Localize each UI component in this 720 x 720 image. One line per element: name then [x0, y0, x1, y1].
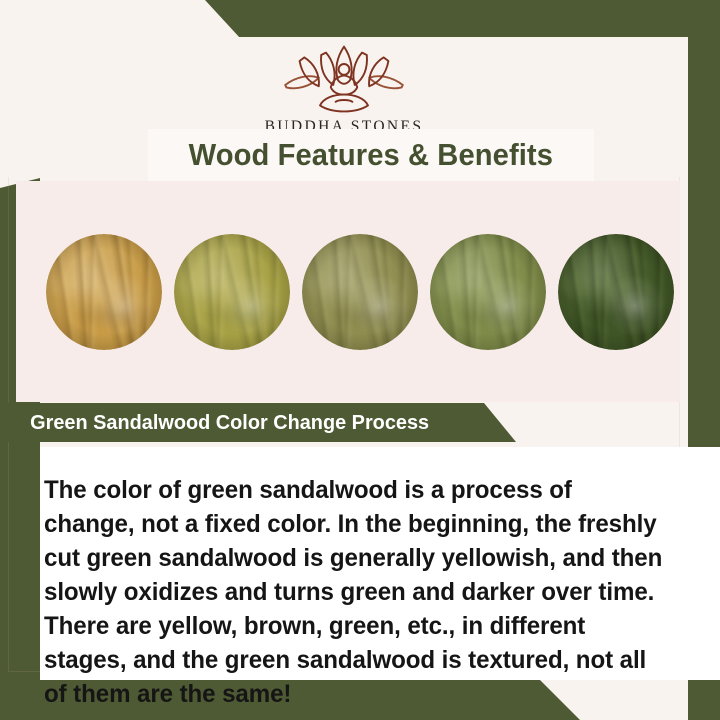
bead-row: [16, 181, 680, 402]
wood-bead-stage-2: [174, 234, 290, 350]
wood-bead-stage-1: [46, 234, 162, 350]
bead-showcase: [16, 181, 680, 402]
bead-shading: [174, 234, 290, 350]
wood-bead-stage-4: [430, 234, 546, 350]
bead-shading: [430, 234, 546, 350]
frame-top-notch: [0, 0, 240, 38]
bead-shading: [302, 234, 418, 350]
body-paragraph: The color of green sandalwood is a proce…: [44, 473, 664, 711]
subtitle-bar: Green Sandalwood Color Change Process: [0, 403, 516, 442]
title-plaque: Wood Features & Benefits: [148, 129, 594, 181]
lotus-meditation-icon: [278, 43, 410, 115]
wood-bead-stage-5: [558, 234, 674, 350]
wood-bead-stage-3: [302, 234, 418, 350]
bead-shading: [558, 234, 674, 350]
page-title: Wood Features & Benefits: [189, 137, 553, 173]
body-copy-panel: The color of green sandalwood is a proce…: [40, 447, 720, 680]
poster-frame: BUDDHA STONES Wood Features & Benefits: [0, 0, 720, 720]
subtitle-label: Green Sandalwood Color Change Process: [30, 411, 429, 435]
bead-shading: [46, 234, 162, 350]
